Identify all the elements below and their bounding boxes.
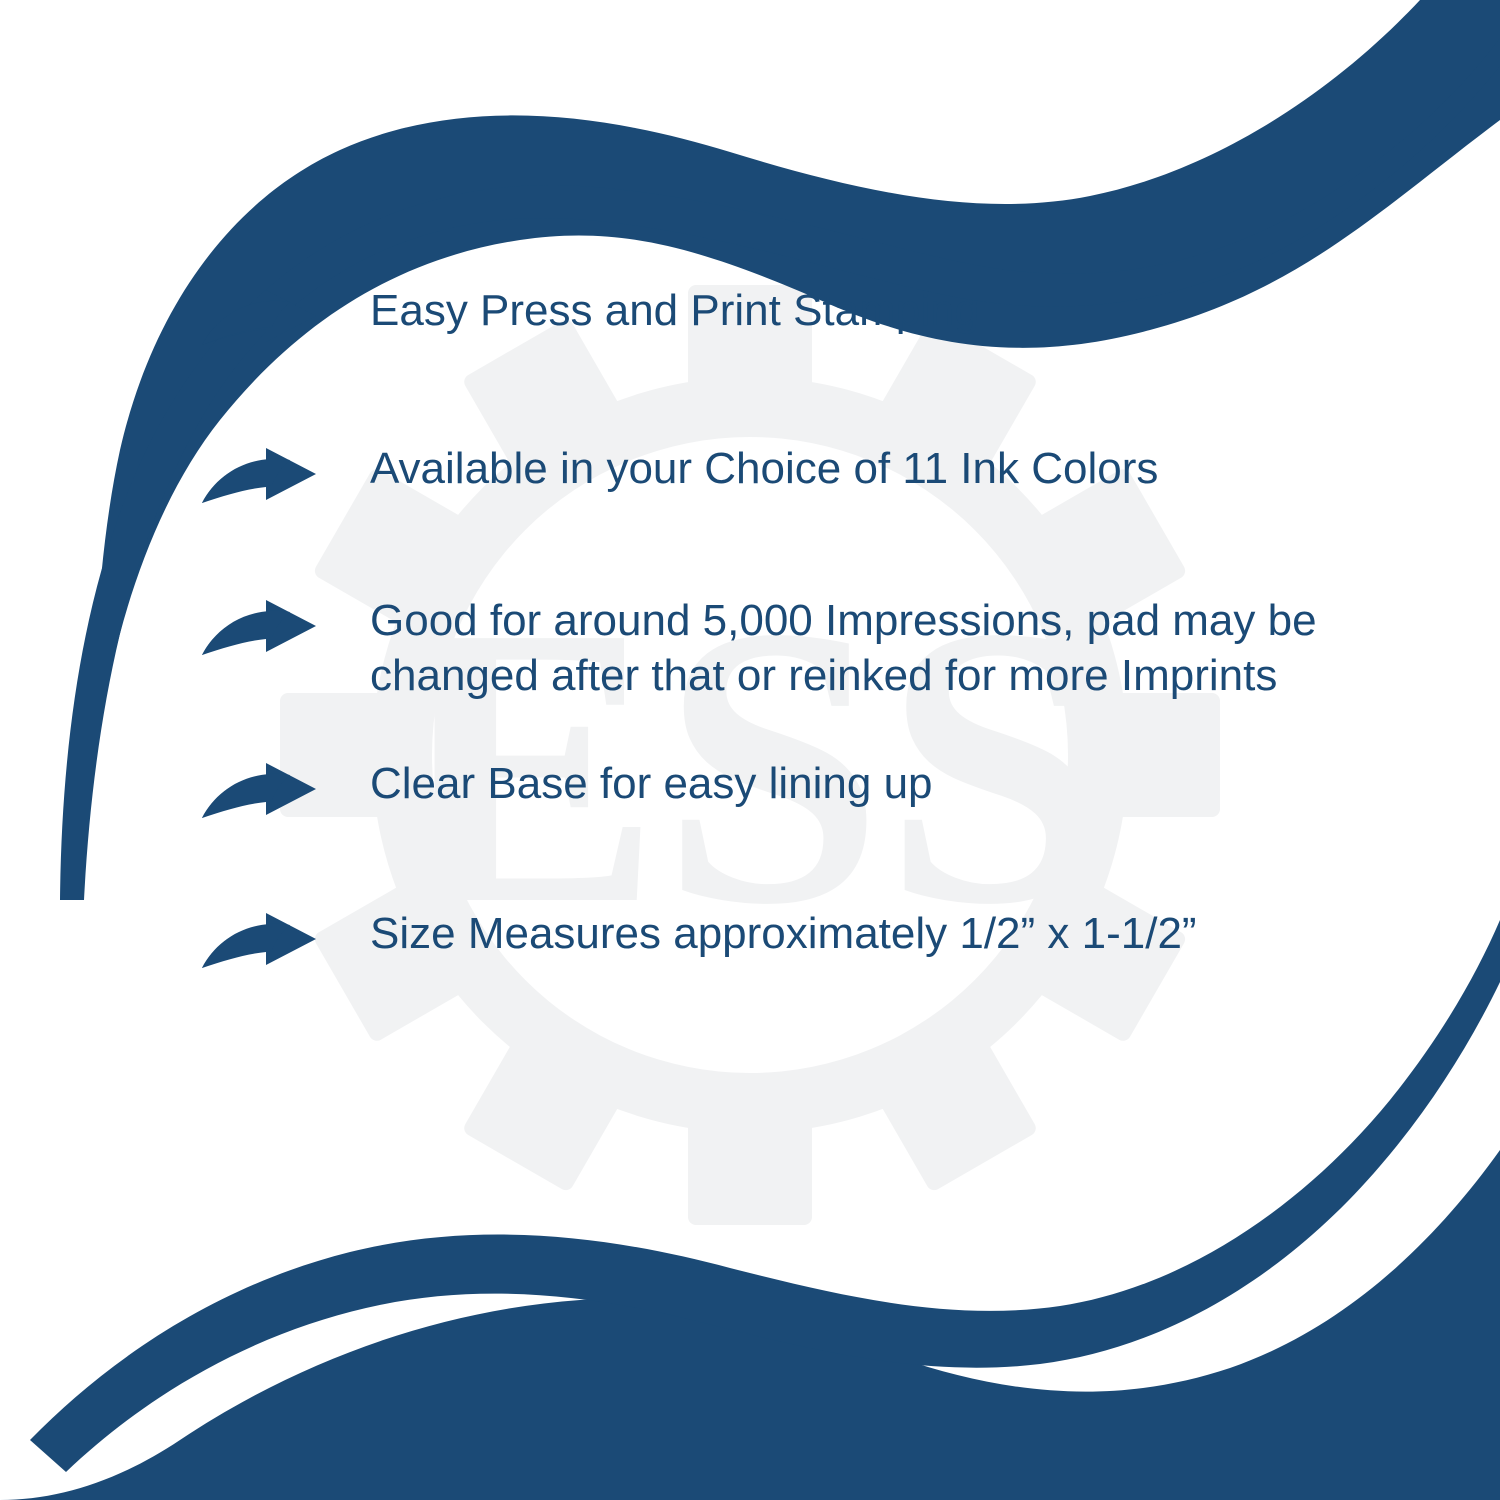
list-item: Easy Press and Print Stamping (200, 283, 1480, 351)
list-item: Size Measures approximately 1/2” x 1-1/2… (200, 906, 1480, 974)
features-list: Easy Press and Print Stamping Available … (200, 283, 1480, 974)
page-title: FEATURES (0, 22, 1500, 112)
list-item-label: Size Measures approximately 1/2” x 1-1/2… (370, 906, 1480, 961)
list-item-label: Easy Press and Print Stamping (370, 283, 1480, 338)
curved-arrow-right-icon (200, 762, 318, 824)
list-item-label: Available in your Choice of 11 Ink Color… (370, 441, 1480, 496)
curved-arrow-right-icon (200, 289, 318, 351)
list-item: Available in your Choice of 11 Ink Color… (200, 441, 1480, 509)
list-item-label: Good for around 5,000 Impressions, pad m… (370, 593, 1480, 704)
list-item: Good for around 5,000 Impressions, pad m… (200, 593, 1480, 704)
curved-arrow-right-icon (200, 912, 318, 974)
list-item-label: Clear Base for easy lining up (370, 756, 1480, 811)
curved-arrow-right-icon (200, 599, 318, 661)
features-graphic: ESS FEATURES Easy Press and Print Stampi… (0, 0, 1500, 1500)
curved-arrow-right-icon (200, 447, 318, 509)
list-item: Clear Base for easy lining up (200, 756, 1480, 824)
